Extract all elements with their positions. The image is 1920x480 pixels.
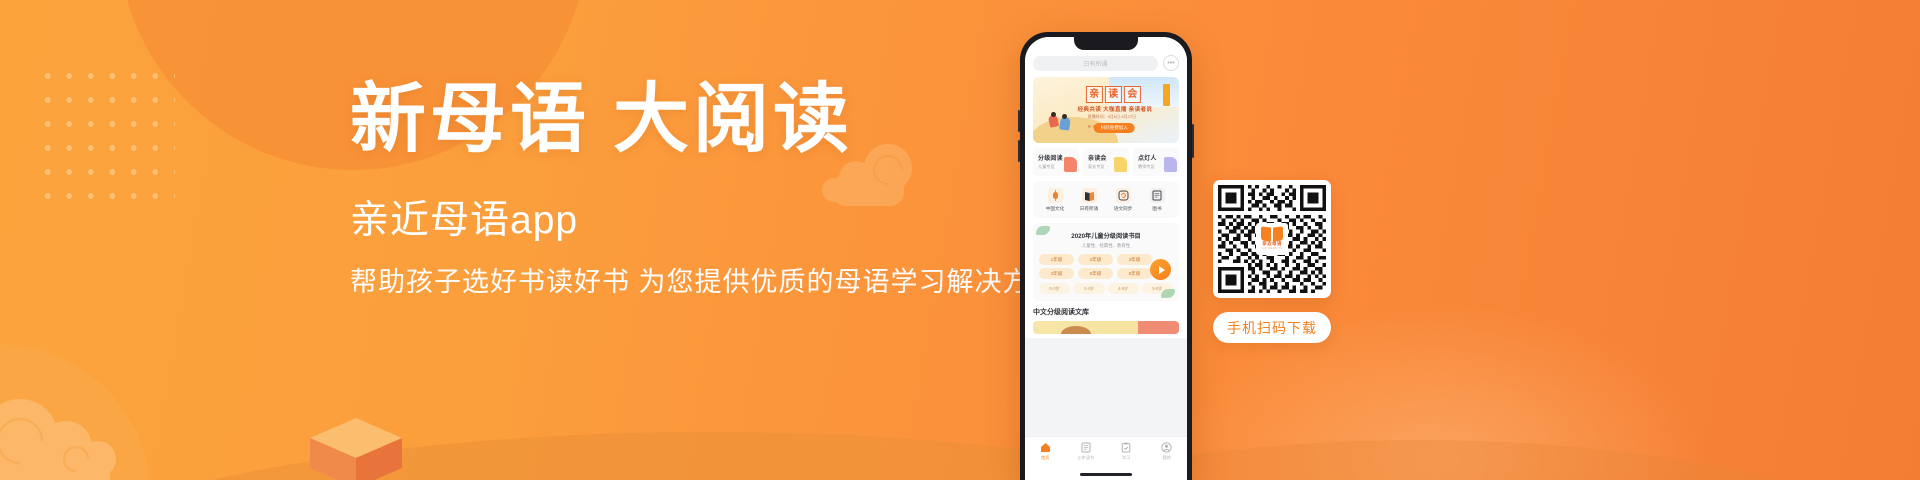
books-icon (1150, 188, 1165, 203)
quick-entry[interactable]: 图书 (1140, 188, 1174, 212)
tab-label: 小步读书 (1077, 455, 1094, 461)
promo-card[interactable]: 亲 读 会 经典共读 大咖直播 亲读者说 直播时间：9月6日-9月27日 扫码免… (1033, 77, 1179, 143)
grade-chip[interactable]: 1年级 (1039, 254, 1074, 265)
quick-entry[interactable]: 中国文化 (1038, 188, 1072, 212)
phone-notch (1074, 37, 1138, 50)
qr-center-logo: 亲近母语 QIN JIN MU YU (1256, 223, 1288, 255)
promo-schedule: 直播时间：9月6日-9月27日 (1088, 114, 1136, 120)
lantern-icon (1048, 188, 1063, 203)
promo-title-char: 亲 (1086, 86, 1103, 103)
decor-3d-box (310, 418, 402, 480)
video-play-icon[interactable] (1150, 259, 1171, 280)
quick-entry[interactable]: 日有所诵 (1072, 188, 1106, 212)
qr-block: 亲近母语 QIN JIN MU YU 手机扫码下载 (1213, 180, 1331, 343)
grade-chip[interactable]: 6年级 (1117, 268, 1152, 279)
promo-child-blue-head (1062, 114, 1067, 119)
category-chip-icon (1164, 157, 1177, 172)
app-name: 亲近母语app (350, 201, 1070, 240)
leaf-decor-icon (1161, 289, 1175, 298)
decor-cloud-bottom-left (0, 385, 160, 480)
phone-screen: 日有所诵 ••• 亲 读 会 经典共读 大 (1025, 37, 1187, 480)
tab-home[interactable]: 首页 (1025, 442, 1066, 461)
decor-dot-grid (35, 62, 175, 212)
quick-entry-label: 图书 (1152, 206, 1161, 212)
tab-profile[interactable]: 我的 (1147, 442, 1188, 461)
qr-canvas: 亲近母语 QIN JIN MU YU (1218, 185, 1326, 293)
promo-title-char: 读 (1105, 86, 1122, 103)
book-page-right (1273, 227, 1283, 242)
home-indicator (1080, 473, 1132, 476)
qr-code-icon[interactable]: 亲近母语 QIN JIN MU YU (1213, 180, 1331, 298)
library-banner-art (1061, 326, 1091, 334)
brand-pinyin: QIN JIN MU YU (1262, 248, 1283, 251)
reading-icon (1080, 442, 1091, 453)
grade-chip[interactable]: 3年级 (1117, 254, 1152, 265)
phone-mockup: 日有所诵 ••• 亲 读 会 经典共读 大 (1020, 32, 1192, 480)
category-chip-icon (1114, 157, 1127, 172)
booklist-title: 2020年儿童分级阅读书目 (1039, 231, 1173, 240)
section-title: 中文分级阅读文库 (1033, 307, 1179, 317)
category-card[interactable]: 点灯人 教师专区 (1133, 148, 1179, 176)
grade-chip[interactable]: 4年级 (1039, 268, 1074, 279)
quick-entry[interactable]: 语文同步 (1106, 188, 1140, 212)
category-card[interactable]: 亲读会 家长专区 (1083, 148, 1129, 176)
tab-label: 我的 (1163, 455, 1171, 461)
category-cards: 分级阅读 儿童专区 亲读会 家长专区 点灯人 教师专区 (1033, 148, 1179, 176)
quick-entry-grid: 中国文化 日有所诵 语文同步 (1033, 181, 1179, 218)
promo-flag (1163, 84, 1170, 106)
clipboard-icon (1121, 442, 1132, 453)
grade-chip[interactable]: 2年级 (1078, 254, 1113, 265)
download-button[interactable]: 手机扫码下载 (1213, 312, 1331, 343)
page-title: 新母语 大阅读 (350, 82, 1070, 158)
app-body: 亲 读 会 经典共读 大咖直播 亲读者说 直播时间：9月6日-9月27日 扫码免… (1025, 77, 1187, 338)
phone-volume-up (1018, 110, 1020, 132)
book-open-icon (1082, 188, 1097, 203)
copy-block: 新母语 大阅读 亲近母语app 帮助孩子选好书读好书 为您提供优质的母语学习解决… (350, 82, 1070, 296)
ellipsis-icon[interactable]: ••• (1163, 55, 1179, 71)
book-logo-icon (1261, 227, 1283, 241)
age-chip[interactable]: 4-5岁 (1108, 283, 1139, 294)
library-banner[interactable] (1033, 321, 1179, 334)
category-card[interactable]: 分级阅读 儿童专区 (1033, 148, 1079, 176)
promo-join-button[interactable]: 扫码免费加入 (1094, 123, 1135, 133)
tab-reading[interactable]: 小步读书 (1066, 442, 1107, 461)
age-chip[interactable]: 3-4岁 (1073, 283, 1104, 294)
grade-chip[interactable]: 5年级 (1078, 268, 1113, 279)
promo-title: 亲 读 会 (1086, 86, 1141, 103)
promo-banner: 新母语 大阅读 亲近母语app 帮助孩子选好书读好书 为您提供优质的母语学习解决… (0, 0, 1920, 480)
quick-entry-label: 日有所诵 (1080, 206, 1098, 212)
quick-entry-label: 中国文化 (1046, 206, 1064, 212)
quick-entry-label: 语文同步 (1114, 206, 1132, 212)
search-input[interactable]: 日有所诵 (1033, 56, 1158, 71)
tab-study[interactable]: 学习 (1106, 442, 1147, 461)
decor-circle-bottom-left (0, 345, 150, 480)
promo-title-char: 会 (1124, 86, 1141, 103)
decor-hill-front (820, 440, 1920, 480)
decor-hill-back (0, 432, 1460, 480)
sync-icon (1116, 188, 1131, 203)
age-chip-group: 0-3岁 3-4岁 4-5岁 5-6岁 (1039, 283, 1173, 294)
book-page-left (1261, 227, 1271, 242)
phone-power (1192, 124, 1194, 158)
promo-child-red-head (1051, 112, 1056, 117)
booklist-card[interactable]: 2020年儿童分级阅读书目 儿童性、经典性、教育性 1年级 2年级 3年级 4年… (1033, 223, 1179, 301)
promo-subtitle: 经典共读 大咖直播 亲读者说 (1078, 105, 1153, 113)
phone-volume-down (1018, 140, 1020, 162)
tab-label: 学习 (1122, 455, 1130, 461)
category-chip-icon (1064, 157, 1077, 172)
tagline: 帮助孩子选好书读好书 为您提供优质的母语学习解决方案 (350, 269, 1070, 296)
booklist-subtitle: 儿童性、经典性、教育性 (1039, 243, 1173, 249)
home-icon (1040, 442, 1051, 453)
tab-label: 首页 (1041, 455, 1049, 461)
age-chip[interactable]: 0-3岁 (1039, 283, 1070, 294)
user-icon (1161, 442, 1172, 453)
